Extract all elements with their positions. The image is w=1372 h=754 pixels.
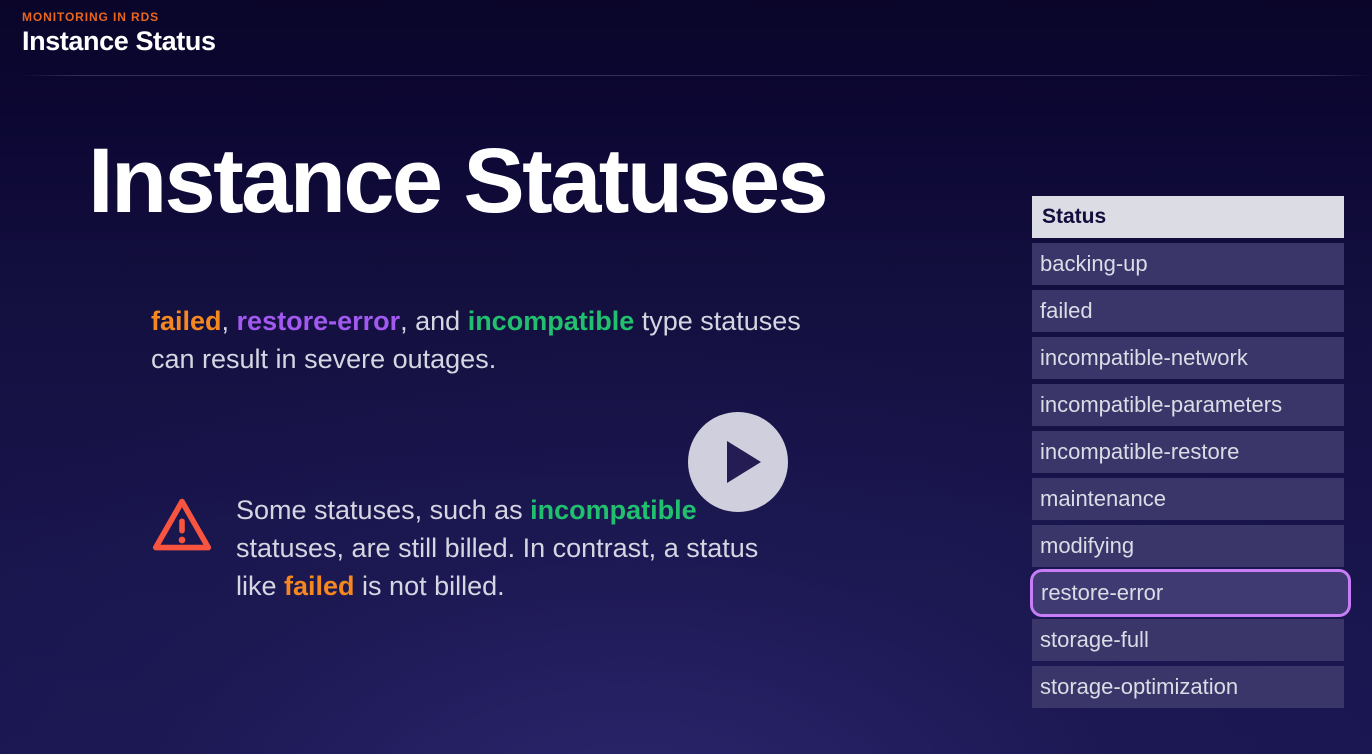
keyword-failed: failed [151,306,222,336]
keyword-incompatible: incompatible [530,495,697,525]
lede-text-1: , and [400,306,468,336]
slide-header: MONITORING IN RDS Instance Status [0,0,1372,78]
status-row[interactable]: restore-error [1033,572,1348,614]
status-row[interactable]: storage-optimization [1032,666,1344,708]
status-row-label: maintenance [1040,486,1166,512]
keyword-incompatible: incompatible [468,306,635,336]
play-icon [727,441,761,483]
status-table-body: backing-upfailedincompatible-networkinco… [1032,243,1344,708]
play-button[interactable] [688,412,788,512]
status-row-label: restore-error [1041,580,1163,606]
status-row-label: incompatible-restore [1040,439,1239,465]
callout-text-2: is not billed. [355,571,505,601]
warning-triangle-icon [152,495,212,555]
status-row[interactable]: incompatible-restore [1032,431,1344,473]
status-row[interactable]: incompatible-network [1032,337,1344,379]
status-row[interactable]: failed [1032,290,1344,332]
status-row[interactable]: backing-up [1032,243,1344,285]
status-row-label: storage-optimization [1040,674,1238,700]
warning-callout: Some statuses, such as incompatible stat… [152,487,792,605]
callout-paragraph: Some statuses, such as incompatible stat… [236,487,792,605]
keyword-restore-error: restore-error [237,306,401,336]
header-divider [20,75,1372,76]
status-row-label: incompatible-parameters [1040,392,1282,418]
status-row[interactable]: incompatible-parameters [1032,384,1344,426]
page-title: Instance Statuses [88,133,826,230]
status-table-column-header: Status [1032,196,1344,238]
status-row[interactable]: maintenance [1032,478,1344,520]
slide-stage: MONITORING IN RDS Instance Status Instan… [0,0,1372,754]
status-row-label: storage-full [1040,627,1149,653]
status-row[interactable]: storage-full [1032,619,1344,661]
header-title: Instance Status [22,26,216,57]
status-row-label: incompatible-network [1040,345,1248,371]
keyword-failed: failed [284,571,355,601]
callout-text-0: Some statuses, such as [236,495,530,525]
status-row[interactable]: modifying [1032,525,1344,567]
lede-text-0: , [222,306,237,336]
status-table: Status backing-upfailedincompatible-netw… [1032,196,1344,713]
status-row-label: backing-up [1040,251,1148,277]
status-row-label: modifying [1040,533,1134,559]
header-eyebrow: MONITORING IN RDS [22,10,159,24]
status-row-label: failed [1040,298,1093,324]
lede-paragraph: failed, restore-error, and incompatible … [151,302,831,378]
